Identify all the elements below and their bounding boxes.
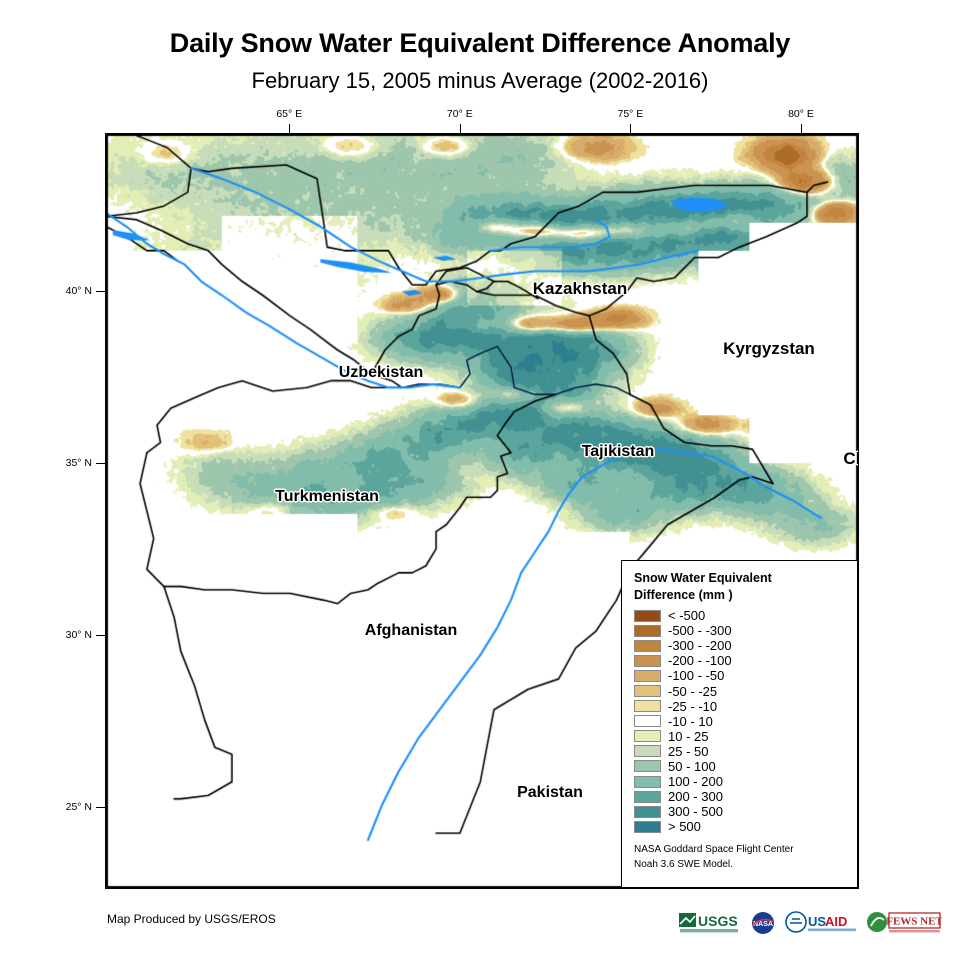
legend-label-4: -100 - -50 [668,669,724,682]
agency-logo-strip: USGSNASAUSAIDFEWS NET [679,906,942,940]
map-credit: Map Produced by USGS/EROS [107,912,276,926]
svg-text:USGS: USGS [698,913,738,929]
legend-swatch-10 [634,760,661,772]
legend-title: Snow Water Equivalent Difference (mm ) [634,570,847,603]
usgs-logo: USGS [679,908,741,938]
lat-tick-mark-2 [96,635,105,636]
legend-swatch-0 [634,610,661,622]
legend-label-12: 200 - 300 [668,790,723,803]
legend-swatch-13 [634,806,661,818]
legend-title-line2: Difference (mm ) [634,587,847,604]
legend-panel: Snow Water Equivalent Difference (mm ) <… [621,560,858,888]
legend-swatch-12 [634,791,661,803]
lon-tick-mark-0 [289,124,290,133]
legend-label-3: -200 - -100 [668,654,732,667]
page-subtitle: February 15, 2005 minus Average (2002-20… [0,68,960,94]
legend-title-line1: Snow Water Equivalent [634,570,847,587]
legend-row-9: 25 - 50 [634,744,847,759]
legend-label-1: -500 - -300 [668,624,732,637]
legend-class-list: < -500-500 - -300-300 - -200-200 - -100-… [634,608,847,834]
lat-tick-label-2: 30° N [66,629,92,641]
legend-row-3: -200 - -100 [634,653,847,668]
lat-tick-mark-0 [96,291,105,292]
legend-swatch-8 [634,730,661,742]
legend-source-note: NASA Goddard Space Flight Center Noah 3.… [634,841,847,871]
lon-tick-mark-2 [630,124,631,133]
usaid-logo: USAID [785,908,859,938]
legend-swatch-4 [634,670,661,682]
lat-tick-mark-3 [96,807,105,808]
legend-label-10: 50 - 100 [668,760,716,773]
legend-row-10: 50 - 100 [634,759,847,774]
legend-label-7: -10 - 10 [668,715,713,728]
lon-tick-label-0: 65° E [276,108,302,120]
legend-swatch-2 [634,640,661,652]
lat-tick-mark-1 [96,463,105,464]
legend-label-14: > 500 [668,820,701,833]
legend-swatch-3 [634,655,661,667]
legend-swatch-1 [634,625,661,637]
lon-tick-label-3: 80° E [788,108,814,120]
lon-tick-label-2: 75° E [618,108,644,120]
legend-label-13: 300 - 500 [668,805,723,818]
lat-tick-label-0: 40° N [66,285,92,297]
legend-swatch-7 [634,715,661,727]
lat-tick-label-3: 25° N [66,801,92,813]
legend-row-12: 200 - 300 [634,789,847,804]
legend-row-8: 10 - 25 [634,729,847,744]
legend-label-6: -25 - -10 [668,700,717,713]
nasa-logo: NASA [748,908,778,938]
legend-row-13: 300 - 500 [634,804,847,819]
svg-text:US: US [808,914,826,929]
legend-row-2: -300 - -200 [634,638,847,653]
fewsnet-logo: FEWS NET [866,908,942,938]
svg-text:FEWS NET: FEWS NET [886,916,942,928]
legend-swatch-9 [634,745,661,757]
legend-label-0: < -500 [668,609,705,622]
lon-tick-mark-3 [801,124,802,133]
legend-label-8: 10 - 25 [668,730,708,743]
svg-text:AID: AID [825,914,847,929]
lon-tick-label-1: 70° E [447,108,473,120]
page-title: Daily Snow Water Equivalent Difference A… [0,28,960,59]
legend-row-1: -500 - -300 [634,623,847,638]
legend-row-5: -50 - -25 [634,683,847,698]
legend-label-5: -50 - -25 [668,685,717,698]
lon-tick-mark-1 [460,124,461,133]
legend-swatch-6 [634,700,661,712]
legend-label-11: 100 - 200 [668,775,723,788]
legend-swatch-14 [634,821,661,833]
lat-tick-label-1: 35° N [66,457,92,469]
legend-label-2: -300 - -200 [668,639,732,652]
legend-note-line2: Noah 3.6 SWE Model. [634,858,847,872]
legend-note-line1: NASA Goddard Space Flight Center [634,843,847,857]
legend-swatch-11 [634,776,661,788]
legend-label-9: 25 - 50 [668,745,708,758]
legend-row-14: > 500 [634,819,847,834]
legend-row-11: 100 - 200 [634,774,847,789]
legend-row-6: -25 - -10 [634,699,847,714]
legend-row-7: -10 - 10 [634,714,847,729]
legend-row-0: < -500 [634,608,847,623]
legend-row-4: -100 - -50 [634,668,847,683]
legend-swatch-5 [634,685,661,697]
